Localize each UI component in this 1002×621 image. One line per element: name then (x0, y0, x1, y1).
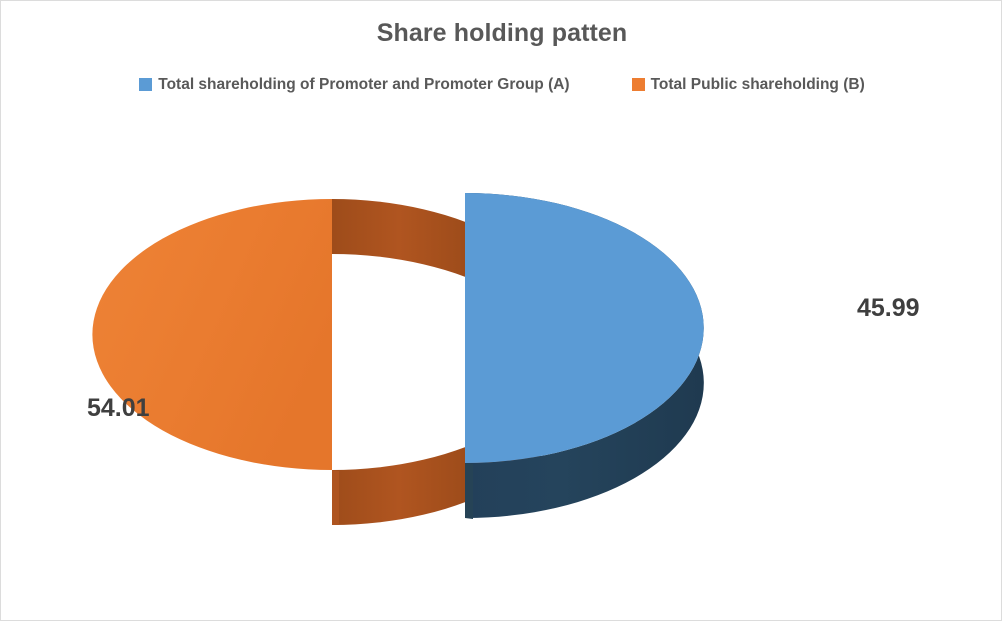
pie-slice-public-cut-wall (332, 470, 339, 525)
legend-swatch-promoter-icon (139, 78, 152, 91)
legend-swatch-public-icon (632, 78, 645, 91)
chart-container: Share holding patten Total shareholding … (0, 0, 1002, 621)
legend-label-public: Total Public shareholding (B) (651, 77, 865, 93)
chart-legend: Total shareholding of Promoter and Promo… (1, 77, 1002, 93)
pie-slice-promoter-cut-wall-2 (465, 463, 473, 519)
chart-title: Share holding patten (1, 19, 1002, 48)
pie-slice-public-top (92, 199, 332, 470)
data-label-public: 54.01 (87, 394, 150, 423)
pie-chart-graphic (1, 105, 1002, 620)
legend-label-promoter: Total shareholding of Promoter and Promo… (158, 77, 569, 93)
legend-item-promoter[interactable]: Total shareholding of Promoter and Promo… (139, 77, 569, 93)
legend-item-public[interactable]: Total Public shareholding (B) (632, 77, 865, 93)
data-label-promoter: 45.99 (857, 294, 920, 323)
pie-slice-promoter[interactable] (465, 193, 704, 519)
